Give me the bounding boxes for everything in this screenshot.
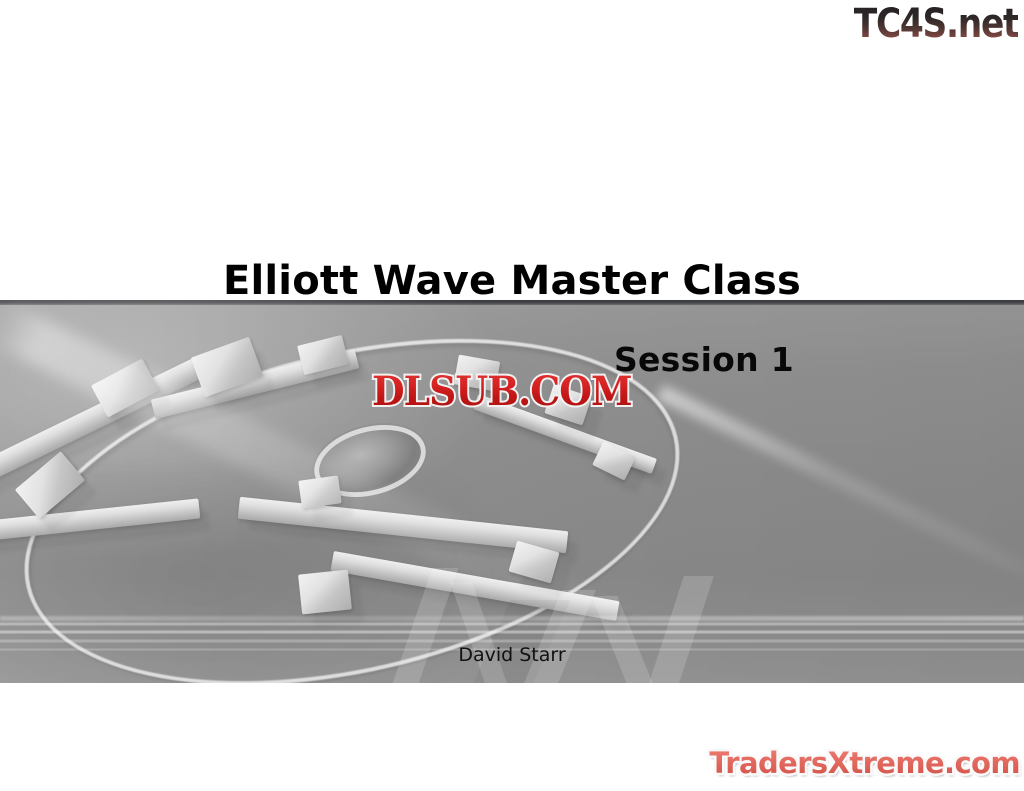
dlsub-watermark: DLSUB.COM bbox=[372, 371, 632, 413]
tradersxtreme-logo-fill: TradersXtreme.com bbox=[709, 745, 1020, 781]
tc4s-net-logo: TC4S.net bbox=[854, 2, 1018, 46]
presentation-slide: TC4S.net Elliott Wave Master Class Sessi… bbox=[0, 0, 1024, 791]
presenter-name: David Starr bbox=[0, 643, 1024, 667]
art-tick bbox=[298, 569, 352, 614]
page-title: Elliott Wave Master Class bbox=[0, 257, 1024, 305]
